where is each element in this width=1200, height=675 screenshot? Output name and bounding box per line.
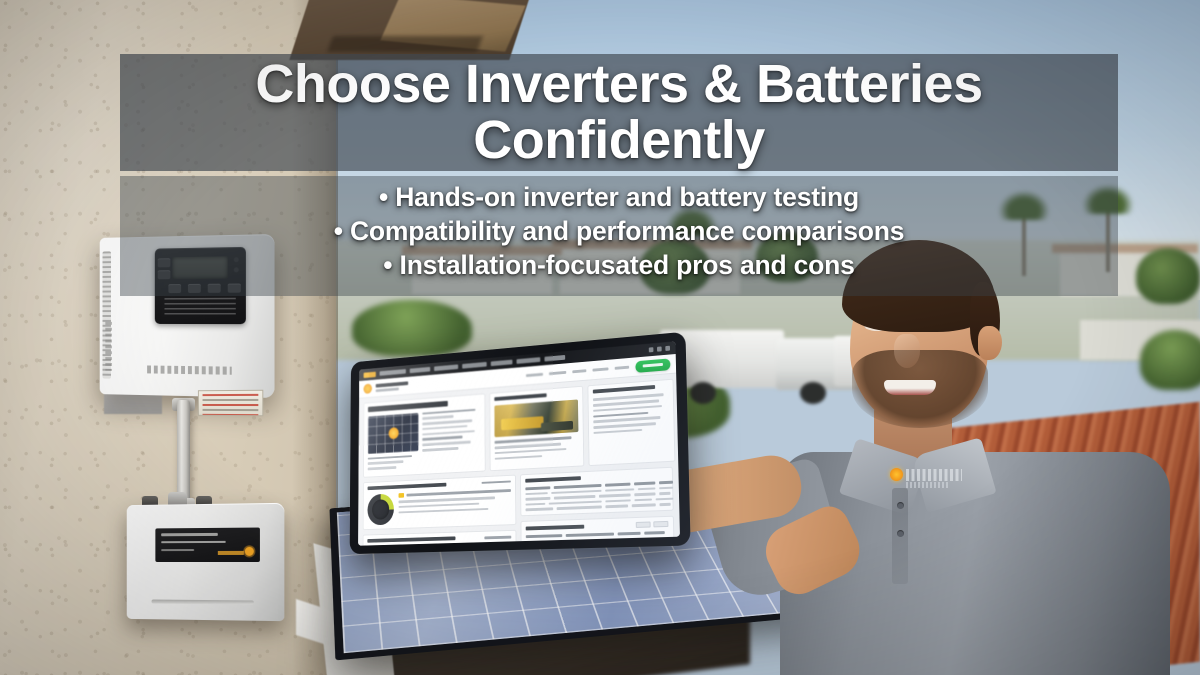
bullet-item-1: • Hands-on inverter and battery testing <box>379 182 859 213</box>
feature-breakdown-card[interactable] <box>520 467 673 517</box>
top-inverters-heading <box>368 401 448 412</box>
detail-line-3 <box>593 405 662 412</box>
inverter-list-item-3 <box>422 430 474 436</box>
thumb-body-line-1 <box>368 461 403 465</box>
polo-button-1 <box>897 502 904 509</box>
brand-name <box>376 382 408 388</box>
technician-ear <box>978 326 1002 360</box>
feature-breakdown-table <box>526 481 668 511</box>
sun-logo-icon <box>890 468 903 481</box>
our-score-label <box>481 480 511 484</box>
rank-badge-icon <box>399 493 405 498</box>
solar-technician <box>742 230 1182 675</box>
shirt-company-name <box>906 469 962 481</box>
energy-gauge-details <box>399 488 512 516</box>
label-brand-text <box>218 551 244 555</box>
nav-item-solar-panels[interactable] <box>410 367 430 373</box>
inverter-list-item-4 <box>422 436 462 441</box>
get-quotes-button[interactable] <box>635 358 670 373</box>
technician-nose <box>894 334 920 368</box>
response-row-title <box>406 545 511 546</box>
inverter-list-item-5 <box>422 441 470 446</box>
title-line-1: Choose Inverters & Batteries <box>255 57 982 113</box>
brand-tagline <box>376 388 399 392</box>
brand-sun-icon[interactable] <box>364 384 372 394</box>
bullet-list: • Hands-on inverter and battery testing … <box>120 182 1118 281</box>
inverter-side-branding <box>105 322 112 371</box>
utility-link-contact[interactable] <box>615 365 629 370</box>
ac-disconnect-box <box>127 503 285 621</box>
utility-link-about[interactable] <box>526 373 543 378</box>
tablet-device[interactable] <box>350 332 691 554</box>
battery-detail-card[interactable] <box>587 379 675 466</box>
warranty-grid-heading <box>526 525 584 531</box>
tablet-bezel <box>350 332 691 554</box>
bullet-item-3: • Installation-focusated pros and cons <box>383 250 854 281</box>
inverter-list-item-6 <box>422 447 458 452</box>
our-rating-label <box>485 536 512 539</box>
inverter-panel-legend <box>165 298 236 316</box>
battery-body-line-3 <box>494 455 542 460</box>
comparison-table-card[interactable] <box>678 374 680 461</box>
battery-detail-heading <box>592 385 655 394</box>
shirt-company-tagline <box>906 482 950 488</box>
brand-text-block[interactable] <box>376 382 408 392</box>
eave-shadow <box>327 36 483 52</box>
nav-item-solar-inverters[interactable] <box>434 365 458 371</box>
nav-item-solar-resources[interactable] <box>380 369 406 375</box>
background-shrub-1 <box>352 300 472 356</box>
top-inverters-card[interactable] <box>363 393 485 477</box>
tablet-screen[interactable] <box>358 341 680 545</box>
disconnect-access-slot <box>152 599 254 604</box>
title-line-2: Confidently <box>473 113 764 169</box>
inverter-list-item-2 <box>422 425 467 430</box>
sun-icon <box>245 547 254 556</box>
detail-line-7 <box>593 429 643 435</box>
inverter-list-title <box>422 408 475 414</box>
battery-storage-heading <box>494 393 547 401</box>
feature-breakdown-heading <box>526 476 581 483</box>
nav-icon-group[interactable] <box>649 346 670 353</box>
thumb-body-line-2 <box>368 466 396 470</box>
detail-line-6 <box>593 422 656 429</box>
inverter-list-sub <box>422 415 453 420</box>
warranty-filter-button-1[interactable] <box>636 521 651 527</box>
gauge-detail-line-3 <box>399 508 489 514</box>
gauge-detail-line-1 <box>399 496 495 503</box>
search-icon[interactable] <box>649 347 654 352</box>
utility-link-compare[interactable] <box>592 367 608 372</box>
nav-item-solar-batteries[interactable] <box>462 362 486 368</box>
nav-item-solar-guides[interactable] <box>544 355 565 361</box>
energy-gauge-row <box>367 488 511 525</box>
page-title: Choose Inverters & Batteries Confidently <box>120 52 1118 174</box>
utility-truck-wheel-1 <box>690 382 716 404</box>
infographic-banner: Choose Inverters & Batteries Confidently… <box>0 0 1200 675</box>
table-row <box>526 542 669 546</box>
utility-link-brands[interactable] <box>572 369 586 374</box>
lower-left-column <box>362 474 517 545</box>
warranty-grid-table <box>526 531 669 546</box>
energy-score-gauge <box>367 493 393 525</box>
menu-icon[interactable] <box>665 346 670 351</box>
nav-item-solar-calculators[interactable] <box>517 357 541 363</box>
warranty-filter-button-2[interactable] <box>653 521 668 527</box>
nav-item-charge-controllers[interactable] <box>491 360 513 366</box>
battery-body-line-2 <box>494 448 566 455</box>
table-row <box>526 537 669 544</box>
electrical-conduit <box>177 400 190 506</box>
label-text-line-1 <box>161 533 218 536</box>
utility-link-reviews[interactable] <box>549 371 566 376</box>
label-text-line-3 <box>161 549 194 551</box>
solar-panel-thumbnail[interactable] <box>368 413 419 454</box>
thumb-caption-line <box>368 455 413 460</box>
polo-button-2 <box>897 530 904 537</box>
energy-output-card[interactable] <box>363 474 517 530</box>
bullet-item-2: • Compatibility and performance comparis… <box>334 216 905 247</box>
warranty-grid-card[interactable] <box>521 516 675 546</box>
response-time-card[interactable] <box>362 530 517 546</box>
energy-output-heading <box>368 483 447 491</box>
inverter-brand-name <box>147 365 232 374</box>
solar-sun-logo-icon[interactable] <box>364 371 376 377</box>
label-text-line-2 <box>161 541 226 544</box>
technician-smile <box>884 380 936 395</box>
response-time-heading <box>367 536 455 542</box>
inverter-warning-label <box>198 390 263 416</box>
gauge-detail-line-2 <box>399 503 479 509</box>
battery-install-photo[interactable] <box>494 400 578 438</box>
battery-storage-card[interactable] <box>489 386 584 471</box>
disconnect-warning-label <box>155 528 260 562</box>
cart-icon[interactable] <box>657 346 662 351</box>
lower-right-column <box>520 467 675 546</box>
